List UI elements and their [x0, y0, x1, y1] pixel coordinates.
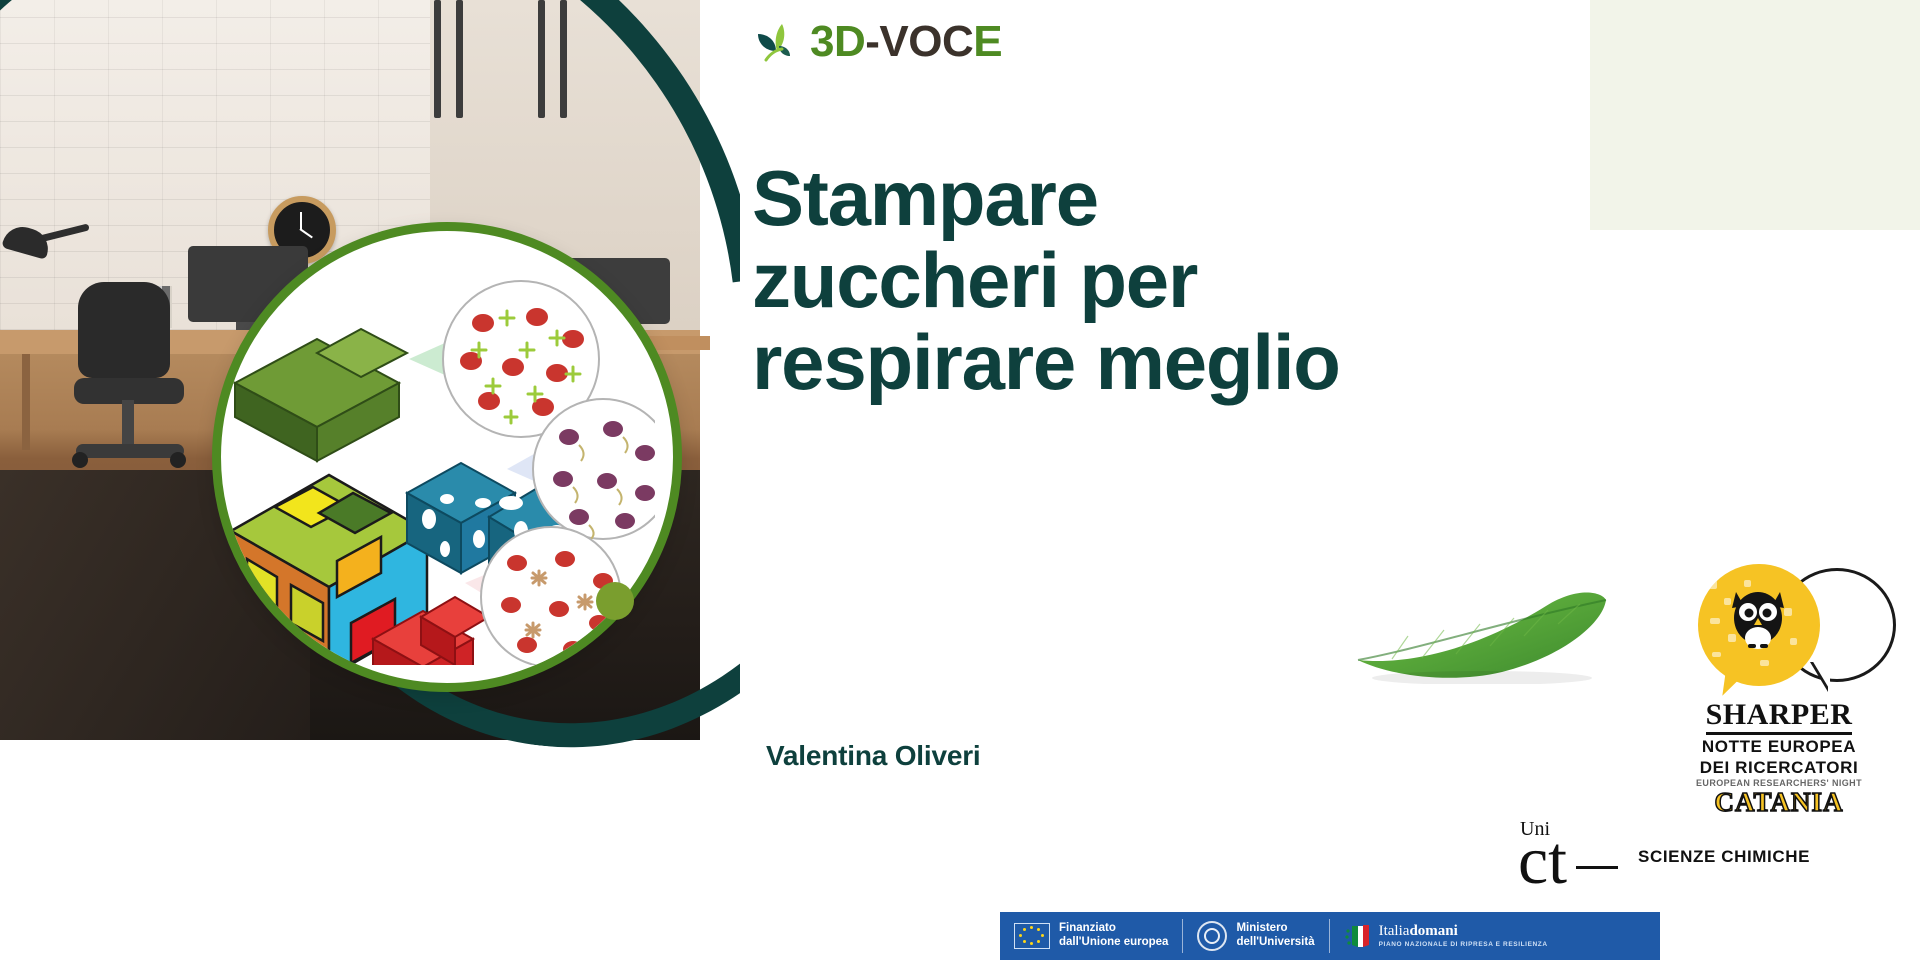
sharper-speech-bubbles — [1666, 560, 1892, 700]
funding-ministry-line-1: Ministero — [1236, 922, 1314, 936]
unict-mark: Uni ct — [1520, 818, 1624, 896]
sharper-subtitle-small: EUROPEAN RESEARCHERS' NIGHT — [1666, 778, 1892, 788]
funding-ministry-line-2: dell'Università — [1236, 936, 1314, 950]
sharper-logo[interactable]: SHARPER NOTTE EUROPEA DEI RICERCATORI EU… — [1666, 560, 1892, 800]
corner-arc-offwhite — [1590, 0, 1920, 230]
hero-image-panel — [0, 0, 740, 960]
brand-name-part-1: 3D — [810, 17, 865, 66]
green-l-block — [235, 329, 407, 461]
title-line-1: Stampare — [752, 158, 1532, 240]
title-line-2: zuccheri per — [752, 240, 1532, 322]
italiadomani-subtitle: PIANO NAZIONALE DI RIPRESA E RESILIENZA — [1379, 941, 1548, 948]
funding-eu-text: Finanziato dall'Unione europea — [1059, 922, 1168, 949]
sharper-city: CATANIA — [1666, 789, 1892, 816]
italiadomani-bold: domani — [1409, 923, 1457, 939]
funding-eu-line-2: dall'Unione europea — [1059, 936, 1168, 950]
author-name: Valentina Oliveri — [766, 740, 980, 772]
funding-cell-ministry: Ministero dell'Università — [1183, 912, 1328, 960]
sharper-subtitle-line-2: DEI RICERCATORI — [1666, 759, 1892, 777]
green-leaf-photo — [1352, 574, 1612, 684]
unict-ct-text: ct — [1518, 826, 1567, 894]
corner-decoration — [1590, 0, 1920, 230]
brand-name: 3D-VOCE — [810, 20, 1002, 64]
speech-bubble-yellow-tail — [1722, 670, 1755, 700]
poster-canvas: 3D-VOCE Stampare zuccheri per respirare … — [0, 0, 1920, 960]
accent-dot — [596, 582, 634, 620]
brand-name-part-3: E — [973, 17, 1002, 66]
funding-banner: Finanziato dall'Unione europea Ministero… — [1000, 912, 1660, 960]
sharper-wordmark: SHARPER — [1666, 700, 1892, 735]
unict-department: SCIENZE CHIMICHE — [1638, 847, 1810, 867]
italiadomani-wordmark: Italiadomani — [1379, 924, 1548, 939]
sharper-subtitle-line-1: NOTTE EUROPEA — [1666, 738, 1892, 756]
funding-ministry-text: Ministero dell'Università — [1236, 922, 1314, 949]
page-title: Stampare zuccheri per respirare meglio — [752, 158, 1532, 404]
title-line-3: respirare meglio — [752, 322, 1532, 404]
funding-cell-italiadomani: Italiadomani PIANO NAZIONALE DI RIPRESA … — [1330, 912, 1562, 960]
swoosh-dot-decoration — [20, 846, 60, 886]
italiadomani-text: Italiadomani PIANO NAZIONALE DI RIPRESA … — [1379, 924, 1548, 948]
italiadomani-light: Italia — [1379, 923, 1410, 939]
owl-icon — [1728, 582, 1788, 656]
italy-flag-icon — [1344, 923, 1370, 949]
eu-flag-icon — [1014, 923, 1050, 949]
funding-eu-line-1: Finanziato — [1059, 922, 1168, 936]
brand-logo[interactable]: 3D-VOCE — [752, 20, 1002, 64]
leaf-icon — [752, 20, 796, 64]
brand-name-part-2: -VOC — [865, 17, 973, 66]
sharper-word: SHARPER — [1706, 700, 1853, 735]
funding-cell-eu: Finanziato dall'Unione europea — [1000, 912, 1182, 960]
unict-bar — [1576, 866, 1618, 869]
italian-republic-emblem-icon — [1197, 921, 1227, 951]
unict-logo[interactable]: Uni ct SCIENZE CHIMICHE — [1520, 818, 1810, 896]
